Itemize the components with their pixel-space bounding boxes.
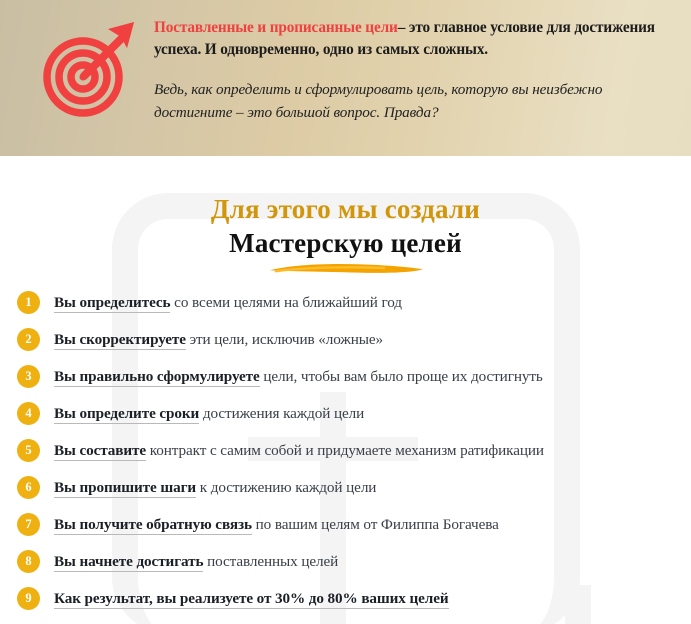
list-item-text: Вы определите сроки достижения каждой це… [54,404,364,423]
list-item-rest: цели, чтобы вам было проще их достигнуть [260,368,543,385]
list-item-lead: Вы получите обратную связь [54,516,252,535]
hero-accent-phrase: Поставленные и прописанные цели [154,19,398,36]
target-dartboard-icon [36,16,144,124]
list-item-text: Вы правильно сформулируете цели, чтобы в… [54,367,543,386]
list-item-text: Вы получите обратную связь по вашим целя… [54,515,499,534]
list-item-number: 4 [17,402,40,425]
list-item-number: 8 [17,550,40,573]
list-item-number: 9 [17,587,40,610]
list-item: 5 Вы составите контракт с самим собой и … [0,432,691,469]
list-item-lead: Как результат, вы реализуете от 30% до 8… [54,590,449,609]
list-item: 2 Вы скорректируете эти цели, исключив «… [0,321,691,358]
brush-stroke-underline [266,262,426,274]
benefits-list: 1 Вы определитесь со всеми целями на бли… [0,284,691,617]
list-item-number: 3 [17,365,40,388]
list-item-rest: контракт с самим собой и придумаете меха… [146,442,544,459]
list-item-lead: Вы скорректируете [54,331,186,350]
list-item: 1 Вы определитесь со всеми целями на бли… [0,284,691,321]
list-item-text: Вы определитесь со всеми целями на ближа… [54,293,402,312]
list-item-text: Как результат, вы реализуете от 30% до 8… [54,589,449,608]
hero-paragraph-secondary: Ведь, как определить и сформулировать це… [154,79,678,124]
list-item-number: 6 [17,476,40,499]
list-item-lead: Вы пропишите шаги [54,479,196,498]
landing-page: Поставленные и прописанные цели– это гла… [0,0,691,624]
list-item-rest: со всеми целями на ближайший год [170,294,401,311]
list-item-number: 7 [17,513,40,536]
list-item-number: 1 [17,291,40,314]
list-item-rest: поставленных целей [203,553,338,570]
list-item: 7 Вы получите обратную связь по вашим це… [0,506,691,543]
list-item-lead: Вы определите сроки [54,405,199,424]
list-item-text: Вы пропишите шаги к достижению каждой це… [54,478,376,497]
list-item-lead: Вы определитесь [54,294,170,313]
list-item-lead: Вы составите [54,442,146,461]
list-item-text: Вы начнете достигать поставленных целей [54,552,338,571]
list-item: 3 Вы правильно сформулируете цели, чтобы… [0,358,691,395]
page-title: Для этого мы создали Мастерскую целей [0,193,691,274]
list-item-rest: достижения каждой цели [199,405,364,422]
list-item-lead: Вы правильно сформулируете [54,368,260,387]
hero-banner: Поставленные и прописанные цели– это гла… [0,0,691,156]
list-item-number: 2 [17,328,40,351]
list-item-lead: Вы начнете достигать [54,553,203,572]
list-item-rest: эти цели, исключив «ложные» [186,331,383,348]
list-item: 4 Вы определите сроки достижения каждой … [0,395,691,432]
list-item-text: Вы составите контракт с самим собой и пр… [54,441,544,460]
list-item: 6 Вы пропишите шаги к достижению каждой … [0,469,691,506]
list-item: 8 Вы начнете достигать поставленных целе… [0,543,691,580]
title-line-dark: Мастерскую целей [0,226,691,260]
list-item-text: Вы скорректируете эти цели, исключив «ло… [54,330,383,349]
list-item-number: 5 [17,439,40,462]
list-item: 9 Как результат, вы реализуете от 30% до… [0,580,691,617]
hero-text-block: Поставленные и прописанные цели– это гла… [154,17,678,124]
title-line-gold: Для этого мы создали [0,193,691,225]
list-item-rest: по вашим целям от Филиппа Богачева [252,516,499,533]
list-item-rest: к достижению каждой цели [196,479,376,496]
hero-paragraph-primary: Поставленные и прописанные цели– это гла… [154,17,678,60]
